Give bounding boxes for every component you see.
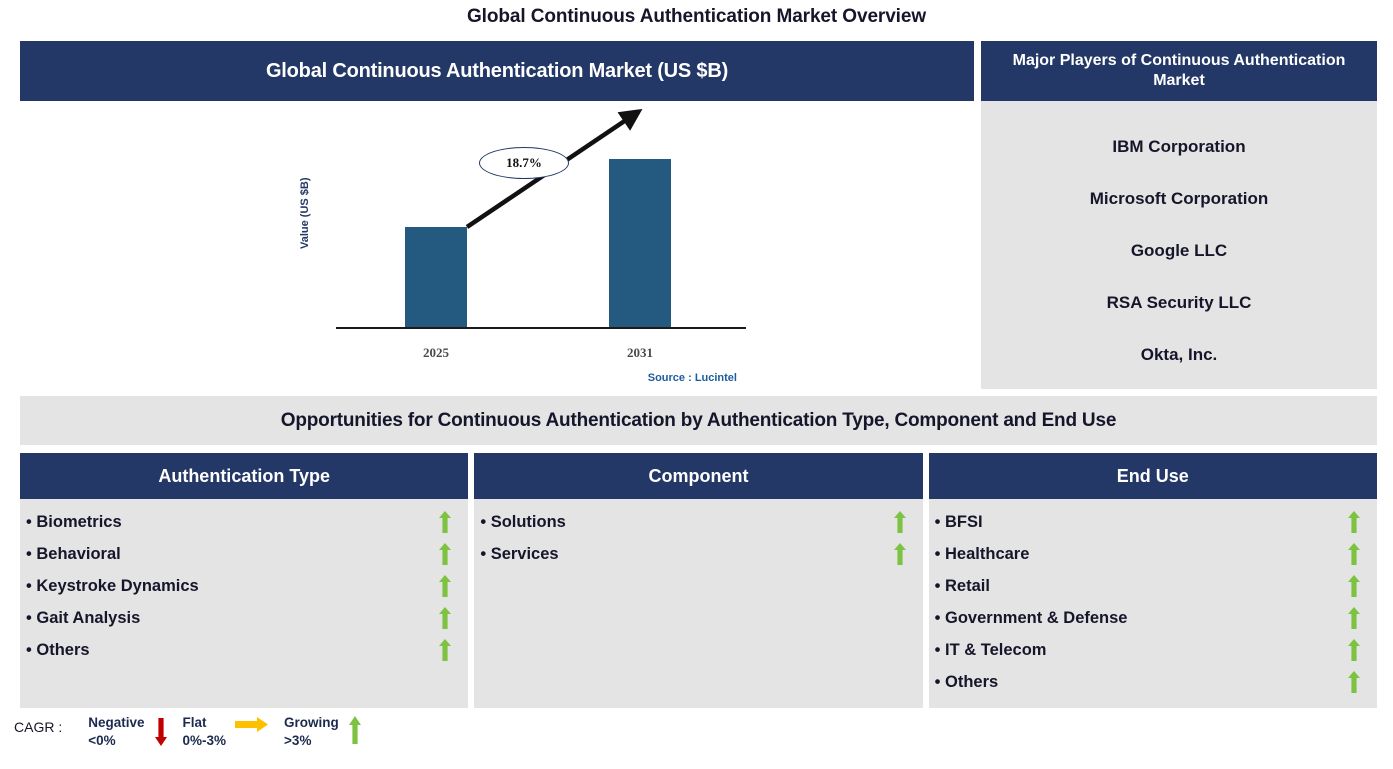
list-item-label: • Others: [935, 673, 999, 692]
arrow-up-green-icon: [438, 543, 452, 565]
bar-2025: [405, 227, 467, 327]
x-tick-label-2031: 2031: [595, 345, 685, 361]
list-item: RSA Security LLC: [981, 277, 1377, 329]
legend-entry-growing: Growing >3%: [284, 714, 371, 750]
arrow-up-green-icon: [438, 607, 452, 629]
major-players-list: IBM Corporation Microsoft Corporation Go…: [981, 101, 1377, 389]
list-item-label: • Services: [480, 545, 558, 564]
list-item-label: • Solutions: [480, 513, 566, 532]
x-tick-label-2025: 2025: [391, 345, 481, 361]
list-item: • Keystroke Dynamics: [20, 570, 468, 602]
list-item: • Retail: [929, 570, 1377, 602]
legend-range: <0%: [88, 732, 144, 750]
arrow-right-yellow-icon: [235, 716, 269, 740]
list-item: • Behavioral: [20, 538, 468, 570]
list-item: • BFSI: [929, 506, 1377, 538]
opportunities-banner: Opportunities for Continuous Authenticat…: [20, 396, 1377, 445]
column-body: • Biometrics • Behavioral • Keystroke Dy…: [20, 499, 468, 708]
list-item-label: • Government & Defense: [935, 609, 1128, 628]
arrow-up-green-icon: [1347, 575, 1361, 597]
cagr-value-callout: 18.7%: [479, 147, 569, 179]
legend-label: Growing: [284, 714, 339, 732]
bar-plot: 2025 2031 18.7%: [316, 101, 746, 389]
x-axis-line: [336, 327, 746, 329]
arrow-up-green-icon: [893, 511, 907, 533]
column-header: Component: [474, 453, 922, 499]
y-axis-label: Value (US $B): [299, 129, 311, 249]
arrow-up-green-icon: [438, 575, 452, 597]
list-item: • Services: [474, 538, 922, 570]
legend-range: >3%: [284, 732, 339, 750]
chart-body: Value (US $B) 2025 2031 18.7%: [20, 101, 974, 389]
list-item-label: • BFSI: [935, 513, 983, 532]
major-players-panel: Major Players of Continuous Authenticati…: [981, 41, 1377, 389]
list-item-label: • Others: [26, 641, 90, 660]
market-chart-panel: Global Continuous Authentication Market …: [20, 41, 974, 389]
list-item: • IT & Telecom: [929, 634, 1377, 666]
list-item: • Government & Defense: [929, 602, 1377, 634]
column-end-use: End Use • BFSI • Healthcare • Retail • G…: [929, 453, 1377, 708]
arrow-up-green-icon: [893, 543, 907, 565]
list-item: Microsoft Corporation: [981, 173, 1377, 225]
list-item: • Healthcare: [929, 538, 1377, 570]
chart-panel-title: Global Continuous Authentication Market …: [20, 41, 974, 101]
arrow-down-red-icon: [154, 716, 168, 746]
list-item-label: • Retail: [935, 577, 990, 596]
list-item: IBM Corporation: [981, 121, 1377, 173]
column-body: • BFSI • Healthcare • Retail • Governmen…: [929, 499, 1377, 708]
column-component: Component • Solutions • Services: [474, 453, 922, 708]
column-header: End Use: [929, 453, 1377, 499]
opportunities-columns: Authentication Type • Biometrics • Behav…: [20, 453, 1377, 708]
arrow-up-green-icon: [1347, 671, 1361, 693]
column-body: • Solutions • Services: [474, 499, 922, 708]
cagr-legend: CAGR : Negative <0% Flat 0%-3% Growing >…: [14, 714, 377, 760]
arrow-up-green-icon: [1347, 639, 1361, 661]
legend-label: Flat: [183, 714, 227, 732]
legend-label: Negative: [88, 714, 144, 732]
arrow-up-green-icon: [1347, 543, 1361, 565]
major-players-title: Major Players of Continuous Authenticati…: [981, 41, 1377, 101]
list-item: • Gait Analysis: [20, 602, 468, 634]
page-title: Global Continuous Authentication Market …: [0, 6, 1393, 28]
list-item: • Biometrics: [20, 506, 468, 538]
arrow-up-green-icon: [438, 511, 452, 533]
list-item: • Solutions: [474, 506, 922, 538]
column-authentication-type: Authentication Type • Biometrics • Behav…: [20, 453, 468, 708]
source-note: Source : Lucintel: [648, 372, 737, 384]
list-item: Google LLC: [981, 225, 1377, 277]
list-item-label: • Healthcare: [935, 545, 1030, 564]
list-item-label: • Behavioral: [26, 545, 121, 564]
list-item-label: • Keystroke Dynamics: [26, 577, 199, 596]
list-item-label: • Gait Analysis: [26, 609, 140, 628]
list-item-label: • Biometrics: [26, 513, 122, 532]
legend-range: 0%-3%: [183, 732, 227, 750]
list-item: Okta, Inc.: [981, 329, 1377, 381]
arrow-up-green-icon: [1347, 511, 1361, 533]
bar-2031: [609, 159, 671, 327]
column-header: Authentication Type: [20, 453, 468, 499]
list-item-label: • IT & Telecom: [935, 641, 1047, 660]
legend-entry-negative: Negative <0%: [88, 714, 176, 750]
arrow-up-green-icon: [1347, 607, 1361, 629]
list-item: • Others: [20, 634, 468, 666]
cagr-legend-title: CAGR :: [14, 714, 62, 735]
list-item: • Others: [929, 666, 1377, 698]
legend-entry-flat: Flat 0%-3%: [183, 714, 279, 750]
arrow-up-green-icon: [438, 639, 452, 661]
arrow-up-green-icon: [348, 716, 362, 746]
